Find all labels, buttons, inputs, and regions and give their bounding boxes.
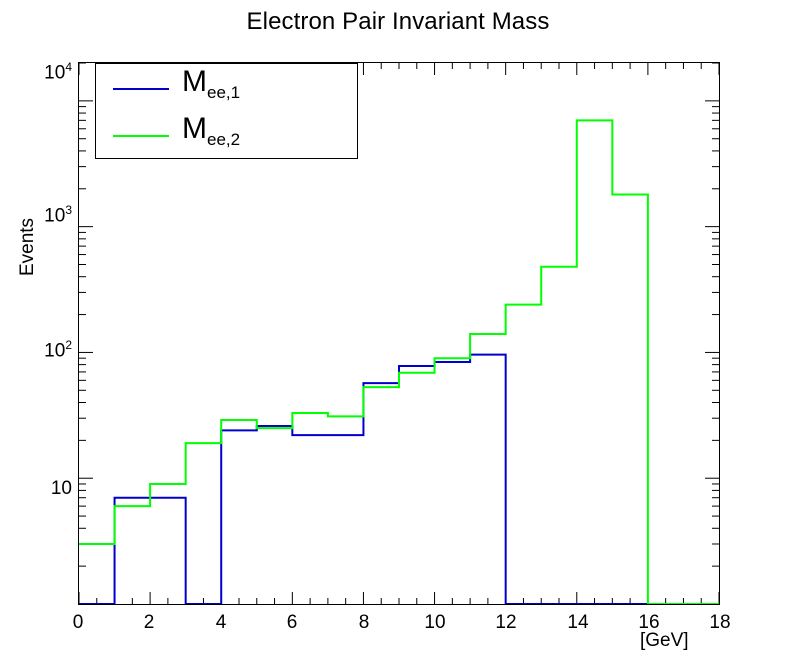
y-tick-label-10: 10 <box>0 478 72 500</box>
histogram-series <box>79 120 719 604</box>
legend-label-1-sub: ee,2 <box>207 130 240 149</box>
legend-label-0: Mee,1 <box>182 67 240 101</box>
legend-entry-1[interactable]: Mee,2 <box>96 111 359 159</box>
x-tick-label-18: 18 <box>700 612 740 634</box>
legend-label-1: Mee,2 <box>182 114 240 148</box>
legend-label-0-text: M <box>182 65 207 98</box>
x-tick-label-8: 8 <box>344 612 384 634</box>
x-tick-label-14: 14 <box>558 612 598 634</box>
x-tick-label-0: 0 <box>58 612 98 634</box>
x-axis-label: [GeV] <box>640 630 689 652</box>
series-path-1 <box>79 120 719 604</box>
legend-swatch-1 <box>113 135 169 137</box>
x-tick-label-6: 6 <box>272 612 312 634</box>
y-axis-label: Events <box>17 167 39 327</box>
y-tick-label-100: 102 <box>0 338 72 362</box>
legend-entry-0[interactable]: Mee,1 <box>96 64 359 112</box>
x-tick-label-4: 4 <box>201 612 241 634</box>
y-tick-label-10000: 104 <box>0 60 72 84</box>
series-path-0 <box>79 355 719 604</box>
y-tick-label-1000: 103 <box>0 203 72 227</box>
page-title: Electron Pair Invariant Mass <box>0 8 796 36</box>
legend-label-1-text: M <box>182 112 207 145</box>
chart-canvas: Electron Pair Invariant Mass Events 104 … <box>0 0 796 672</box>
legend-label-0-sub: ee,1 <box>207 83 240 102</box>
x-tick-label-2: 2 <box>129 612 169 634</box>
x-tick-label-12: 12 <box>486 612 526 634</box>
legend-swatch-0 <box>113 88 169 90</box>
legend: Mee,1 Mee,2 <box>95 63 358 159</box>
x-tick-label-10: 10 <box>415 612 455 634</box>
